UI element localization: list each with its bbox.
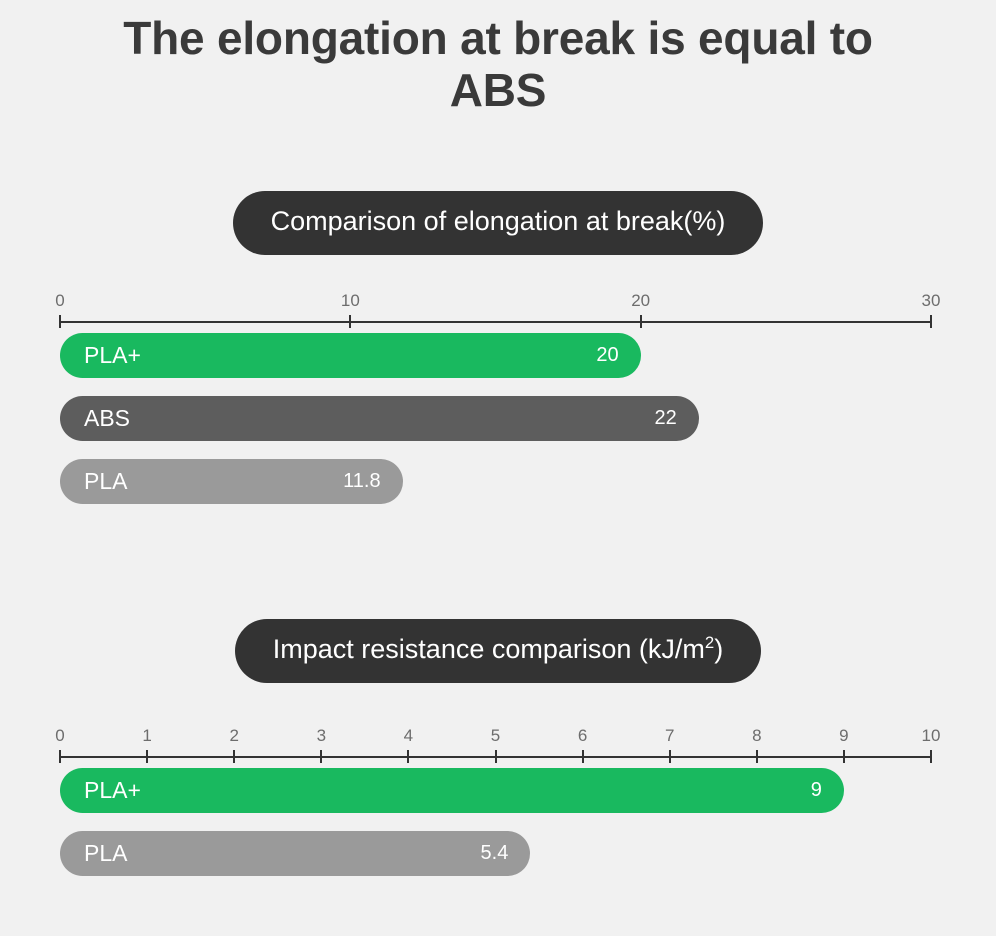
axis-tick-label: 1	[142, 726, 151, 746]
section-1-badge-label: Comparison of elongation at break(%)	[271, 206, 726, 236]
bar-pla[interactable]: PLA5.4	[60, 831, 530, 876]
axis-tick	[640, 315, 642, 328]
axis-tick	[407, 750, 409, 763]
impact-bars: PLA+9PLA5.4	[60, 768, 996, 876]
section-2-badge-row: Impact resistance comparison (kJ/m2)	[0, 619, 996, 683]
axis-tick-label: 3	[317, 726, 326, 746]
bar-value-label: 22	[654, 407, 676, 430]
axis-tick-label: 8	[752, 726, 761, 746]
axis-tick	[233, 750, 235, 763]
bar-pla-plus[interactable]: PLA+9	[60, 768, 844, 813]
axis-tick	[59, 315, 61, 328]
bar-pla-plus[interactable]: PLA+20	[60, 333, 641, 378]
axis-tick-label: 9	[839, 726, 848, 746]
axis-tick-label: 0	[55, 291, 64, 311]
axis-tick	[843, 750, 845, 763]
bar-pla[interactable]: PLA11.8	[60, 459, 403, 504]
axis-tick	[930, 750, 932, 763]
bar-value-label: 9	[811, 779, 822, 802]
bar-category-label: PLA+	[84, 777, 141, 804]
bar-abs[interactable]: ABS22	[60, 396, 699, 441]
impact-chart: 012345678910 PLA+9PLA5.4	[0, 728, 996, 894]
bar-category-label: ABS	[84, 405, 130, 432]
axis-tick	[930, 315, 932, 328]
axis-tick-label: 4	[404, 726, 413, 746]
bar-value-label: 11.8	[343, 470, 380, 493]
elongation-chart: 0102030 PLA+20ABS22PLA11.8	[0, 293, 996, 522]
elongation-axis: 0102030	[0, 293, 996, 333]
elongation-bars: PLA+20ABS22PLA11.8	[60, 333, 996, 504]
section-2-badge-label: Impact resistance comparison (kJ/m	[273, 634, 705, 664]
axis-tick	[320, 750, 322, 763]
axis-tick-label: 0	[55, 726, 64, 746]
section-2-badge: Impact resistance comparison (kJ/m2)	[235, 619, 761, 683]
infographic-page: The elongation at break is equal to ABS …	[0, 0, 996, 936]
bar-category-label: PLA	[84, 468, 127, 495]
axis-tick	[495, 750, 497, 763]
axis-tick-label: 20	[631, 291, 650, 311]
axis-tick	[669, 750, 671, 763]
axis-tick-label: 10	[341, 291, 360, 311]
section-2-badge-superscript: 2	[705, 633, 714, 652]
impact-axis: 012345678910	[0, 728, 996, 768]
axis-tick	[756, 750, 758, 763]
page-title: The elongation at break is equal to ABS	[0, 12, 996, 117]
axis-tick-label: 5	[491, 726, 500, 746]
axis-line	[60, 321, 931, 323]
bar-category-label: PLA+	[84, 342, 141, 369]
bar-category-label: PLA	[84, 840, 127, 867]
axis-tick-label: 30	[922, 291, 941, 311]
axis-tick-label: 6	[578, 726, 587, 746]
axis-tick-label: 2	[229, 726, 238, 746]
section-2-badge-suffix: )	[714, 634, 723, 664]
axis-tick	[349, 315, 351, 328]
axis-tick-label: 10	[922, 726, 941, 746]
section-1-badge-row: Comparison of elongation at break(%)	[0, 191, 996, 255]
axis-tick	[59, 750, 61, 763]
axis-tick	[146, 750, 148, 763]
bar-value-label: 5.4	[481, 842, 509, 865]
axis-tick-label: 7	[665, 726, 674, 746]
bar-value-label: 20	[596, 344, 618, 367]
axis-tick	[582, 750, 584, 763]
section-1-badge: Comparison of elongation at break(%)	[233, 191, 764, 255]
